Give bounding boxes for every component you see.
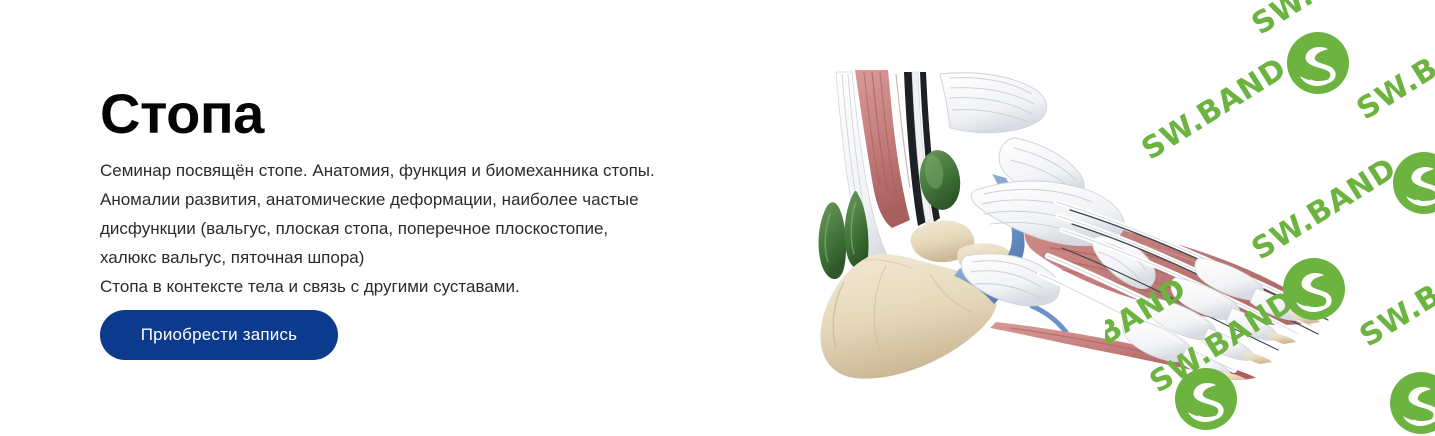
description-line: Аномалии развития, анатомические деформа… <box>100 185 740 214</box>
foot-anatomy-illustration <box>800 60 1360 380</box>
description-line: халюкс вальгус, пяточная шпора) <box>100 243 740 272</box>
cta-container: Приобрести запись <box>100 310 338 360</box>
extensor-retinaculum <box>940 73 1155 306</box>
hero-text-block: Стопа Семинар посвящён стопе. Анатомия, … <box>100 86 740 301</box>
watermark-logo <box>1393 152 1435 214</box>
description-line: Стопа в контексте тела и связь с другими… <box>100 272 740 301</box>
hero-description: Семинар посвящён стопе. Анатомия, функци… <box>100 156 740 301</box>
watermark-text: SW.BAND <box>1363 322 1435 357</box>
page-title: Стопа <box>100 86 740 142</box>
sw-band-logo-icon <box>1393 152 1435 214</box>
description-line: дисфункции (вальгус, плоская стопа, попе… <box>100 214 740 243</box>
watermark-logo <box>1390 372 1435 434</box>
watermark-text: SW.BAND <box>1360 95 1435 130</box>
description-line: Семинар посвящён стопе. Анатомия, функци… <box>100 156 740 185</box>
landing-page: Стопа Семинар посвящён стопе. Анатомия, … <box>0 0 1435 436</box>
sw-band-logo-icon <box>1390 372 1435 434</box>
purchase-recording-button[interactable]: Приобрести запись <box>100 310 338 360</box>
watermark-text: SW.BAND <box>1255 10 1418 45</box>
